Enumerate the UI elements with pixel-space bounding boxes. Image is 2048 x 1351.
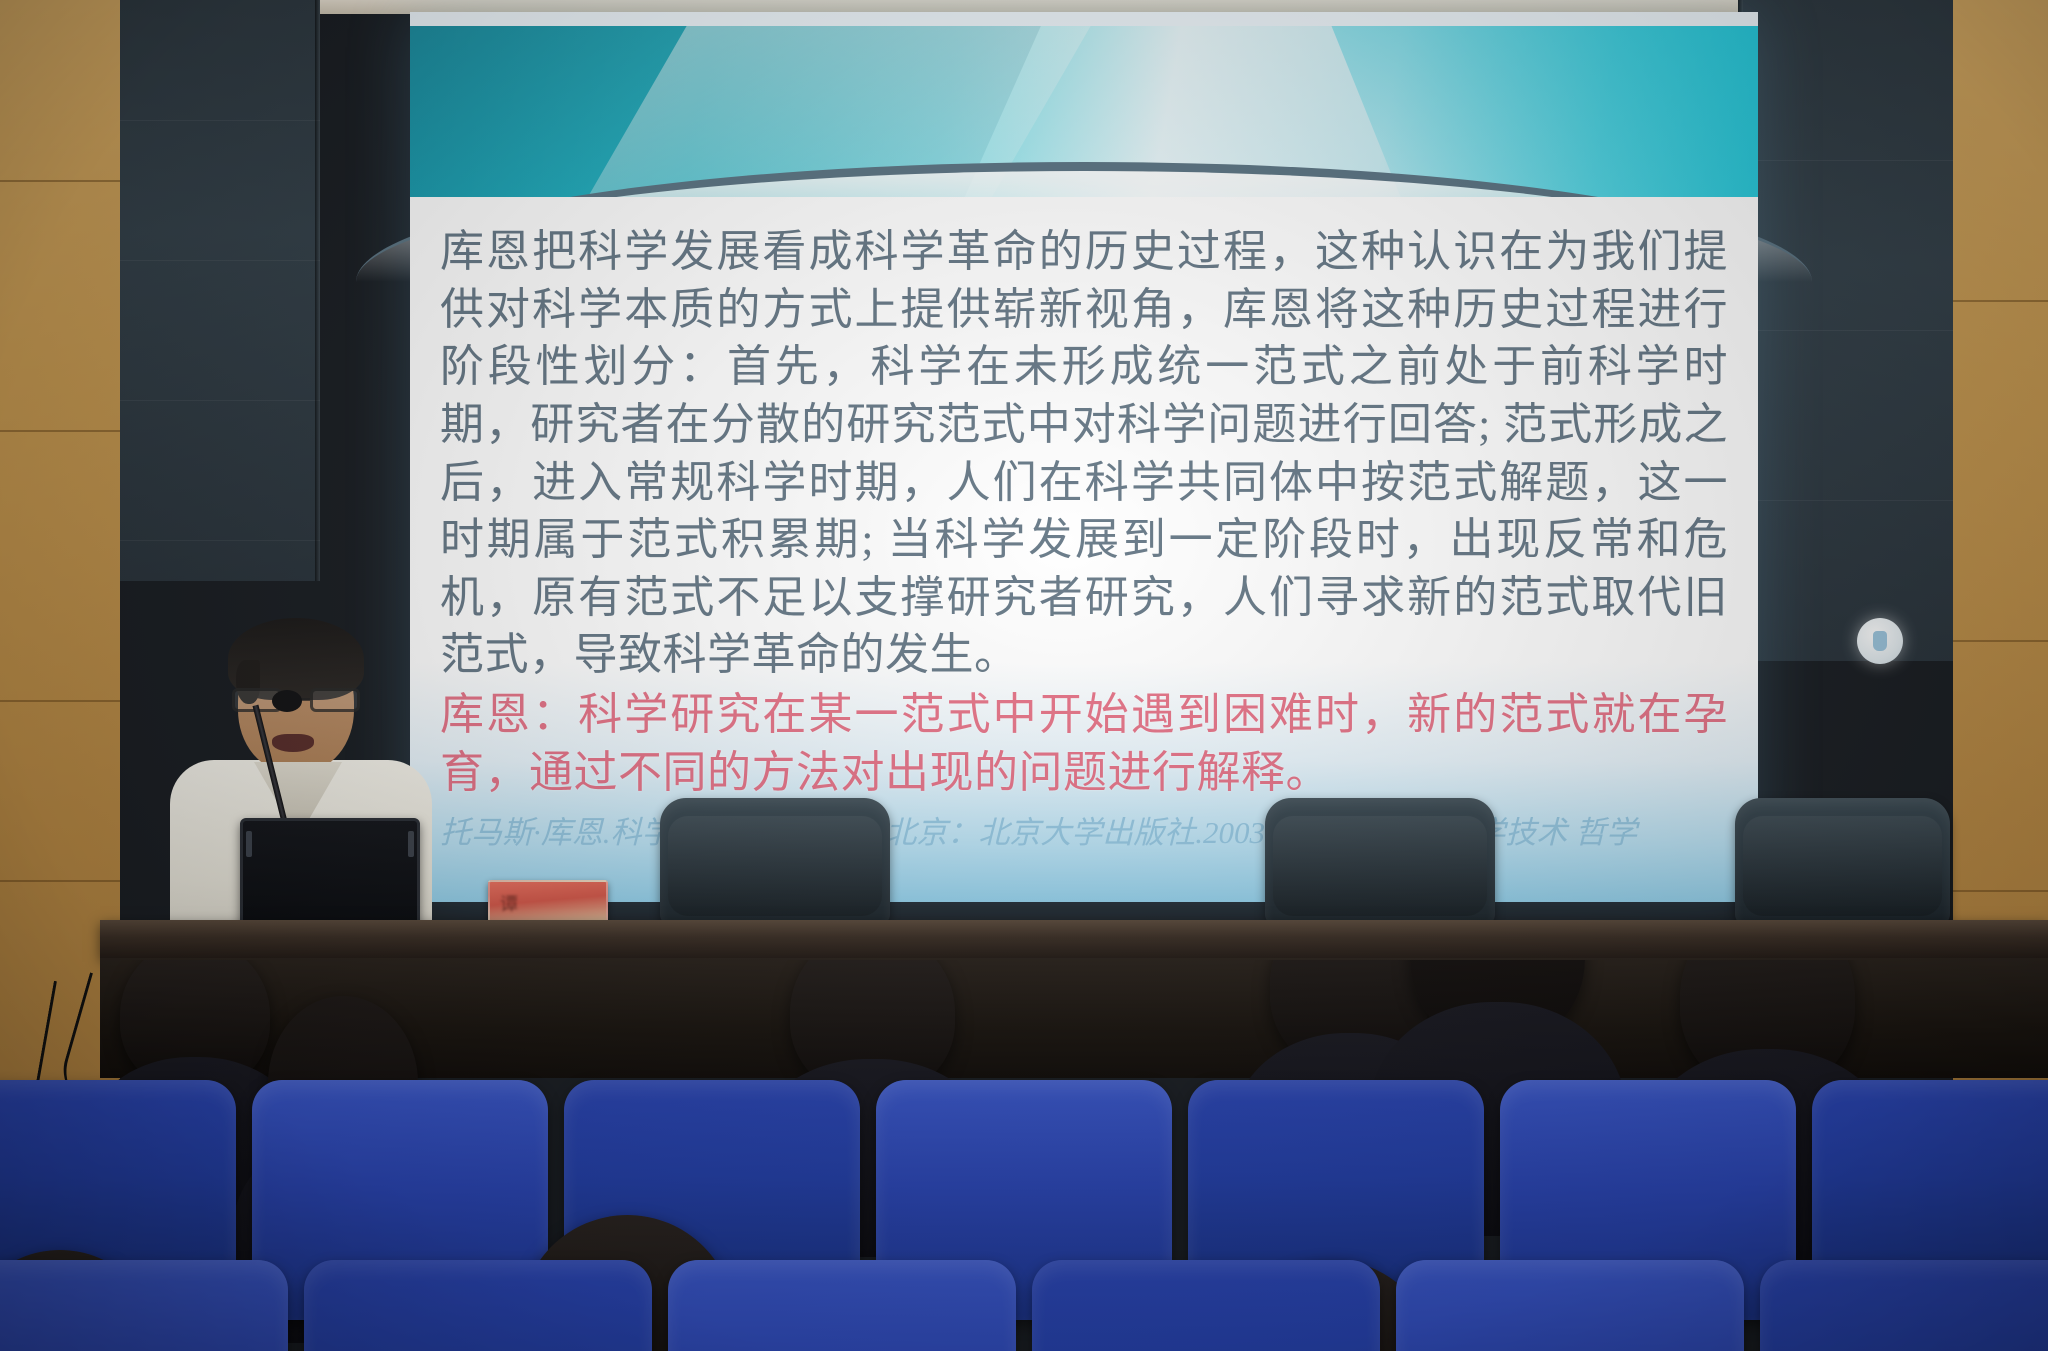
name-placard-text: 谭 bbox=[500, 890, 518, 916]
laptop-on-table bbox=[240, 818, 420, 926]
room: 库恩把科学发展看成科学革命的历史过程，这种认识在为我们提供对科学本质的方式上提供… bbox=[0, 0, 2048, 1351]
auditorium-seat bbox=[0, 1260, 288, 1351]
office-chair bbox=[1265, 798, 1495, 926]
projection-screen: 库恩把科学发展看成科学革命的历史过程，这种认识在为我们提供对科学本质的方式上提供… bbox=[410, 12, 1758, 902]
auditorium-seat bbox=[668, 1260, 1016, 1351]
auditorium-seat bbox=[1396, 1260, 1744, 1351]
slide-content: 库恩把科学发展看成科学革命的历史过程，这种认识在为我们提供对科学本质的方式上提供… bbox=[410, 197, 1758, 902]
dark-wall-right bbox=[1738, 0, 1953, 661]
office-chair bbox=[1735, 798, 1950, 926]
wall-sensor-icon bbox=[1857, 618, 1903, 664]
auditorium-seat bbox=[304, 1260, 652, 1351]
lecture-hall-photo: 库恩把科学发展看成科学革命的历史过程，这种认识在为我们提供对科学本质的方式上提供… bbox=[0, 0, 2048, 1351]
seat-row-second bbox=[0, 1260, 2048, 1351]
auditorium-seat bbox=[1760, 1260, 2048, 1351]
audience-head bbox=[790, 960, 955, 1095]
podium-table-top bbox=[100, 920, 2048, 958]
audience-head bbox=[1680, 960, 1855, 1090]
presenter-mouth bbox=[272, 734, 314, 752]
microphone-head bbox=[272, 690, 302, 712]
slide-highlight-text: 库恩：科学研究在某一范式中开始遇到困难时，新的范式就在孕育，通过不同的方法对出现… bbox=[440, 686, 1728, 801]
dark-wall-left bbox=[120, 0, 320, 581]
slide-paragraph: 库恩把科学发展看成科学革命的历史过程，这种认识在为我们提供对科学本质的方式上提供… bbox=[440, 223, 1728, 684]
audience-seating bbox=[0, 960, 2048, 1351]
slide-citation: 托马斯·库恩.科学革命的结构[M].北京：北京大学出版社.2003. 1962年… bbox=[440, 811, 1728, 856]
audience-head bbox=[1410, 960, 1585, 1045]
auditorium-seat bbox=[1032, 1260, 1380, 1351]
office-chair bbox=[660, 798, 890, 926]
audience-head bbox=[120, 960, 270, 1090]
